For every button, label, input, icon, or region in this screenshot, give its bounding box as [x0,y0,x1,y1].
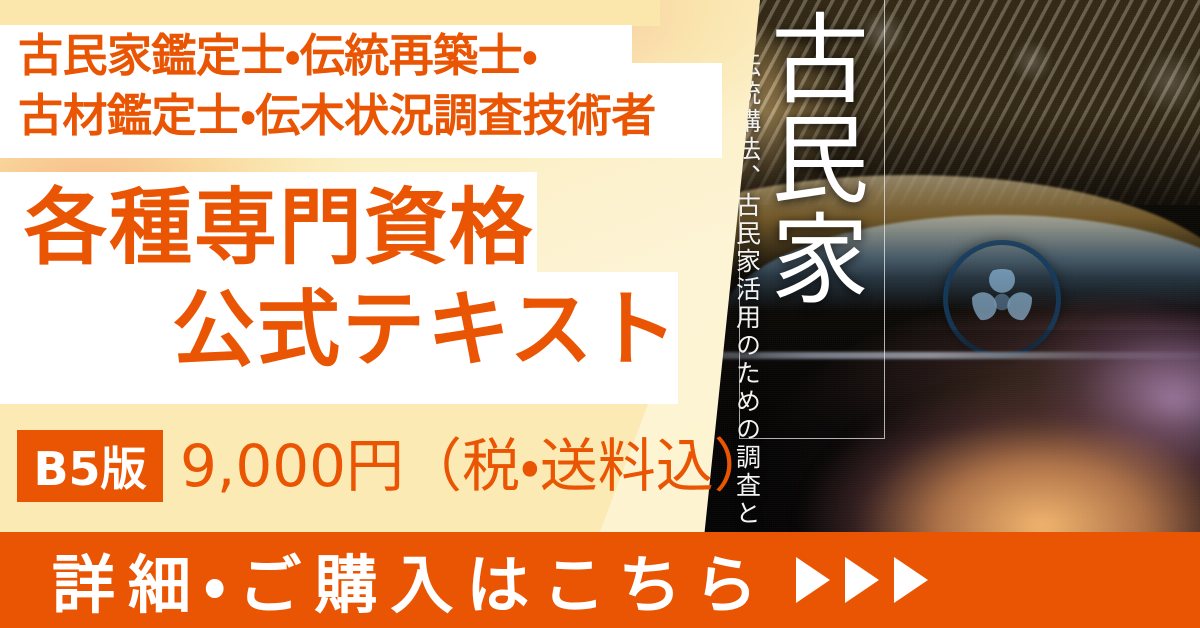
title-line-2: 公式テキスト [172,288,680,371]
headline-text: 古民家鑑定士・伝統再築士・ 古材鑑定士・伝木状況調査技術者 [18,26,718,147]
cta-bar[interactable]: 詳細・ご購入はこちら [0,532,1200,628]
headline-line-1: 古民家鑑定士・伝統再築士・ [18,26,718,86]
format-badge: B5版 [17,430,163,502]
cta-label: 詳細・ご購入はこちら [52,535,770,626]
headline-line-2: 古材鑑定士・伝木状況調査技術者 [18,86,718,146]
triangle-right-icon [796,557,830,603]
triangle-right-icon [894,557,928,603]
title-line-1: 各種専門資格 [24,186,534,269]
cream-strip-top [0,0,660,26]
triangle-right-icon [845,557,879,603]
price-text: 9,000円（税・送料込） [180,434,772,499]
cta-arrow-group [796,557,928,603]
promo-banner: 古民家 伝統構法、古民家活用のための調査と再生の 古民家鑑定士・伝統再築士・ 古… [0,0,1200,628]
cover-title-text: 古民家 [752,8,872,308]
